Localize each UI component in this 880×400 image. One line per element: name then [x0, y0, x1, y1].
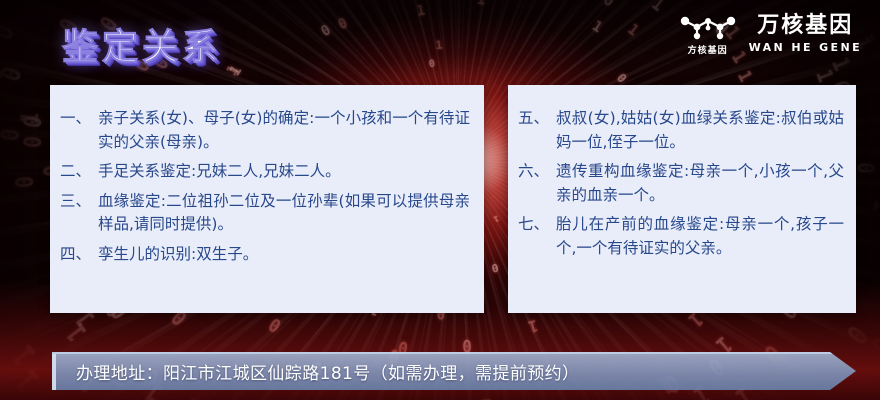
list-item-number: 六、 — [518, 160, 556, 184]
address-banner: 办理地址：阳江市江城区仙踪路181号（如需办理，需提前预约） — [52, 352, 856, 390]
list-item: 五、叔叔(女),姑姑(女)血绿关系鉴定:叔伯或姑妈一位,侄子一位。 — [518, 107, 844, 154]
list-item: 二、手足关系鉴定:兄妹二人,兄妹二人。 — [60, 160, 470, 184]
list-item: 一、亲子关系(女)、母子(女)的确定:一个小孩和一个有待证实的父亲(母亲)。 — [60, 107, 470, 154]
list-item-number: 二、 — [60, 160, 98, 184]
relationship-list-left: 一、亲子关系(女)、母子(女)的确定:一个小孩和一个有待证实的父亲(母亲)。二、… — [60, 107, 470, 266]
list-item: 七、胎儿在产前的血缘鉴定:母亲一个,孩子一个,一个有待证实的父亲。 — [518, 213, 844, 260]
list-item-number: 一、 — [60, 107, 98, 131]
list-item-number: 四、 — [60, 243, 98, 267]
page-title: 鉴定关系 — [62, 18, 222, 70]
list-item-text: 叔叔(女),姑姑(女)血绿关系鉴定:叔伯或姑妈一位,侄子一位。 — [556, 107, 844, 154]
logo-wordmark: 万核基因 WAN HE GENE — [749, 14, 862, 53]
list-item-number: 五、 — [518, 107, 556, 131]
list-item-text: 血缘鉴定:二位祖孙二位及一位孙辈(如果可以提供母亲样品,请同时提供)。 — [98, 190, 470, 237]
list-item-text: 手足关系鉴定:兄妹二人,兄妹二人。 — [98, 160, 470, 184]
brand-logo: 方核基因 万核基因 WAN HE GENE — [677, 12, 862, 56]
content-panel-left: 一、亲子关系(女)、母子(女)的确定:一个小孩和一个有待证实的父亲(母亲)。二、… — [50, 85, 484, 313]
logo-name-cn: 万核基因 — [757, 14, 853, 38]
list-item-text: 胎儿在产前的血缘鉴定:母亲一个,孩子一个,一个有待证实的父亲。 — [556, 213, 844, 260]
logo-mark: 方核基因 — [677, 12, 739, 56]
slide-root: 0010111101100110110110101100011101001100… — [0, 0, 880, 400]
logo-name-en: WAN HE GENE — [749, 41, 862, 54]
list-item-number: 七、 — [518, 213, 556, 237]
list-item: 六、遗传重构血缘鉴定:母亲一个,小孩一个,父亲的血亲一个。 — [518, 160, 844, 207]
dna-molecule-icon — [677, 12, 739, 42]
content-panel-right: 五、叔叔(女),姑姑(女)血绿关系鉴定:叔伯或姑妈一位,侄子一位。六、遗传重构血… — [508, 85, 856, 313]
list-item-text: 遗传重构血缘鉴定:母亲一个,小孩一个,父亲的血亲一个。 — [556, 160, 844, 207]
list-item-number: 三、 — [60, 190, 98, 214]
address-banner-left-edge — [52, 354, 56, 390]
address-banner-text: 办理地址：阳江市江城区仙踪路181号（如需办理，需提前预约） — [76, 352, 579, 390]
list-item-text: 亲子关系(女)、母子(女)的确定:一个小孩和一个有待证实的父亲(母亲)。 — [98, 107, 470, 154]
relationship-list-right: 五、叔叔(女),姑姑(女)血绿关系鉴定:叔伯或姑妈一位,侄子一位。六、遗传重构血… — [518, 107, 844, 260]
list-item: 三、血缘鉴定:二位祖孙二位及一位孙辈(如果可以提供母亲样品,请同时提供)。 — [60, 190, 470, 237]
logo-mark-sublabel: 方核基因 — [688, 43, 728, 56]
list-item-text: 孪生儿的识别:双生子。 — [98, 243, 470, 267]
list-item: 四、孪生儿的识别:双生子。 — [60, 243, 470, 267]
